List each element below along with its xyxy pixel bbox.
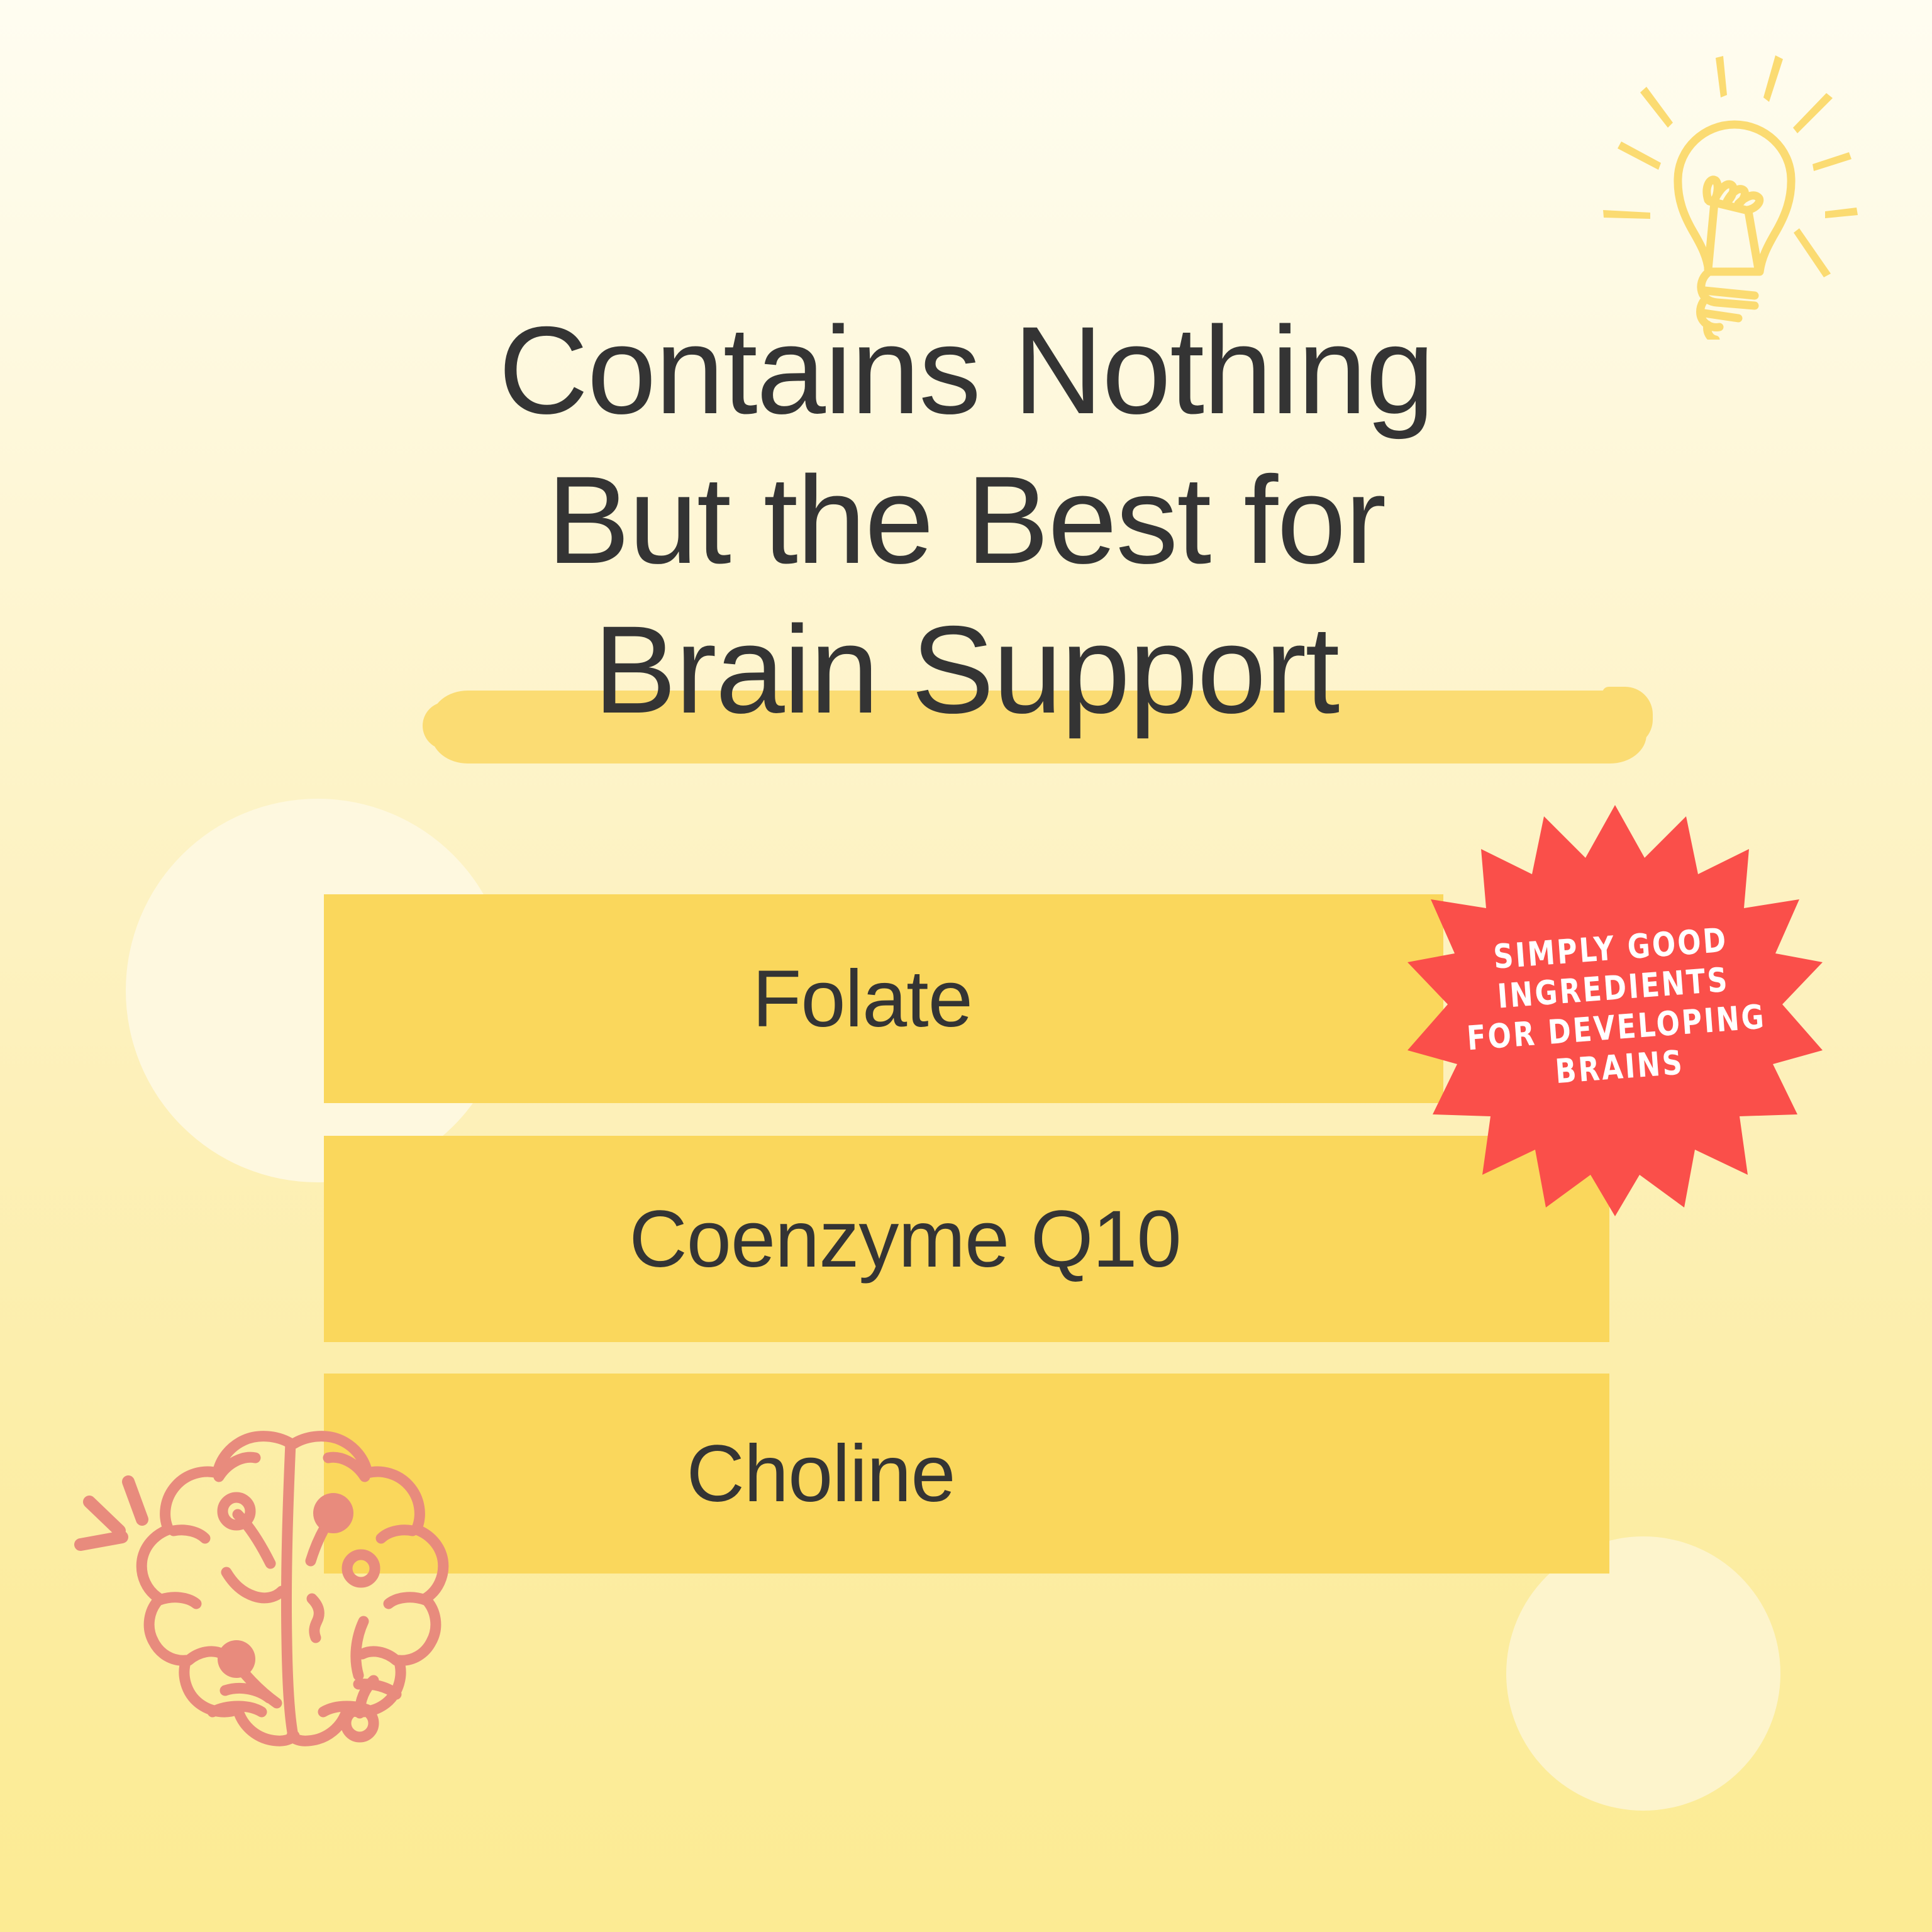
ingredient-label: Folate <box>752 953 972 1045</box>
title-line-2: But the Best for <box>0 445 1932 595</box>
title-line-3: Brain Support <box>0 595 1932 745</box>
ingredient-label: Coenzyme Q10 <box>629 1193 1180 1285</box>
lightbulb-icon <box>1597 31 1874 340</box>
background-circle-right <box>1506 1536 1780 1811</box>
poster-canvas: Contains Nothing But the Best for Brain … <box>0 0 1932 1932</box>
page-title: Contains Nothing But the Best for Brain … <box>0 296 1932 745</box>
ingredient-bar-choline[interactable]: Choline <box>324 1374 1609 1574</box>
status-badge: Simply Good Ingredients For Developing B… <box>1407 800 1823 1216</box>
ingredient-bar-folate[interactable]: Folate <box>324 894 1443 1103</box>
starburst-icon <box>1407 800 1823 1216</box>
brain-icon <box>69 1414 503 1854</box>
ingredient-label: Choline <box>686 1428 955 1520</box>
